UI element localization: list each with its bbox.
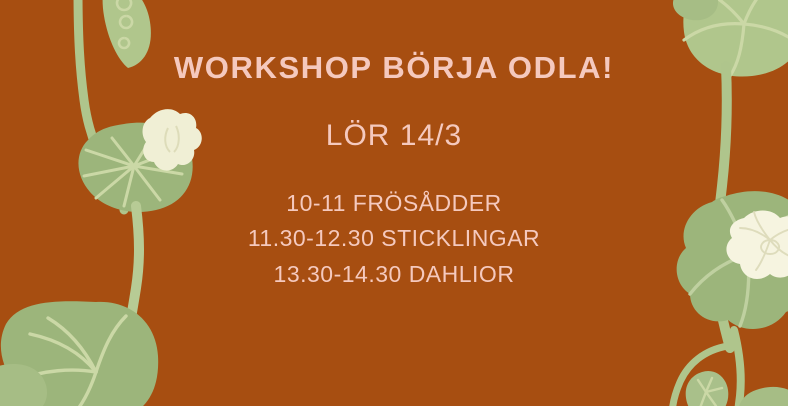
page-title: WORKSHOP BÖRJA ODLA!	[174, 52, 614, 83]
event-date: LÖR 14/3	[326, 121, 462, 151]
poster-text-content: WORKSHOP BÖRJA ODLA! LÖR 14/3 10-11 FRÖS…	[0, 0, 788, 406]
poster-canvas: WORKSHOP BÖRJA ODLA! LÖR 14/3 10-11 FRÖS…	[0, 0, 788, 406]
schedule-item: 10-11 FRÖSÅDDER	[286, 189, 501, 218]
schedule-list: 10-11 FRÖSÅDDER 11.30-12.30 STICKLINGAR …	[248, 189, 540, 289]
schedule-item: 13.30-14.30 DAHLIOR	[274, 260, 515, 289]
schedule-item: 11.30-12.30 STICKLINGAR	[248, 224, 540, 253]
